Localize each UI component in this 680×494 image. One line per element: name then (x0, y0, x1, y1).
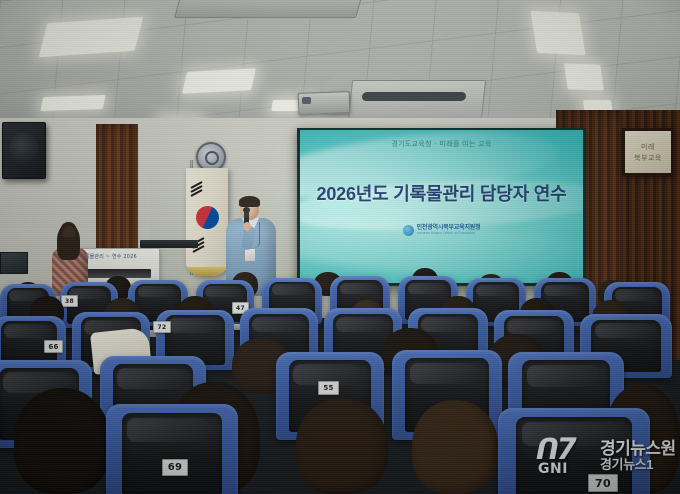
podium-handwriting: 기록물관리 ~ 연수 2026 (80, 253, 154, 263)
projector-lens-icon (302, 97, 311, 104)
gni-logo-icon: ᑎ7 GNI (534, 436, 596, 476)
seat-number-plate: 38 (61, 295, 78, 307)
audience-head (412, 400, 498, 494)
office-of-education-logo-icon (403, 225, 414, 236)
slide-organization-logo: 인천광역시북부교육지원청 Incheon Bukbu Office of Edu… (300, 225, 583, 236)
watermark-brand-line1: 경기뉴스원 (600, 439, 676, 458)
watermark-brand-line2: 경기뉴스1 (600, 458, 676, 473)
monitor (0, 252, 28, 274)
wall-framed-sign: 미래 북부교육 (622, 128, 674, 176)
seat-number-plate: 66 (44, 340, 63, 353)
audience-head (296, 398, 388, 494)
ceiling-light-panel (182, 68, 256, 94)
audience-head (14, 388, 110, 494)
news-watermark: ᑎ7 GNI 경기뉴스원 경기뉴스1 (534, 432, 680, 480)
taegeuk-symbol-icon (192, 202, 223, 233)
ceiling-light-panel (530, 11, 585, 55)
gni-mark-glyph: ᑎ7 (536, 436, 594, 463)
slide-org-english: Incheon Bukbu Office of Education (417, 232, 481, 236)
projector-mount-pole (320, 80, 325, 92)
flag-bottom-band (186, 267, 228, 276)
slide-top-caption: 경기도교육청 · 미래를 여는 교육 (300, 139, 583, 149)
speaker-id-badge (244, 248, 256, 262)
side-desk (140, 240, 198, 248)
auditorium-seat[interactable] (106, 404, 238, 494)
ceiling-light-panel (40, 95, 106, 111)
ac-vent-slot (362, 92, 467, 101)
wall-mounted-speaker (2, 122, 46, 179)
slide-title: 2026년도 기록물관리 담당자 연수 (300, 180, 583, 206)
ceiling-light-panel (39, 17, 144, 57)
projection-screen: 경기도교육청 · 미래를 여는 교육 2026년도 기록물관리 담당자 연수 인… (300, 130, 583, 283)
gni-abbreviation: GNI (538, 461, 568, 477)
speaker-hair (239, 196, 260, 207)
ceiling-light-panel (564, 63, 604, 90)
korean-national-flag (186, 168, 228, 276)
wall-sign-line1: 미래 (641, 142, 655, 152)
seat-number-plate: 72 (153, 321, 171, 333)
seat-number-plate: 69 (162, 459, 188, 476)
presenter-hair-top (63, 226, 75, 237)
wall-sign-line2: 북부교육 (634, 153, 662, 163)
conference-room-photograph: 미래 북부교육 경기도교육청 · 미래를 여는 교육 2026년도 기록물관리 … (0, 0, 680, 494)
ceiling-ac-vent (174, 0, 364, 18)
speaker-hand (243, 222, 251, 231)
projection-screen-frame: 경기도교육청 · 미래를 여는 교육 2026년도 기록물관리 담당자 연수 인… (297, 128, 586, 286)
seat-number-plate: 55 (318, 381, 339, 395)
microphone-head-icon (243, 207, 250, 213)
